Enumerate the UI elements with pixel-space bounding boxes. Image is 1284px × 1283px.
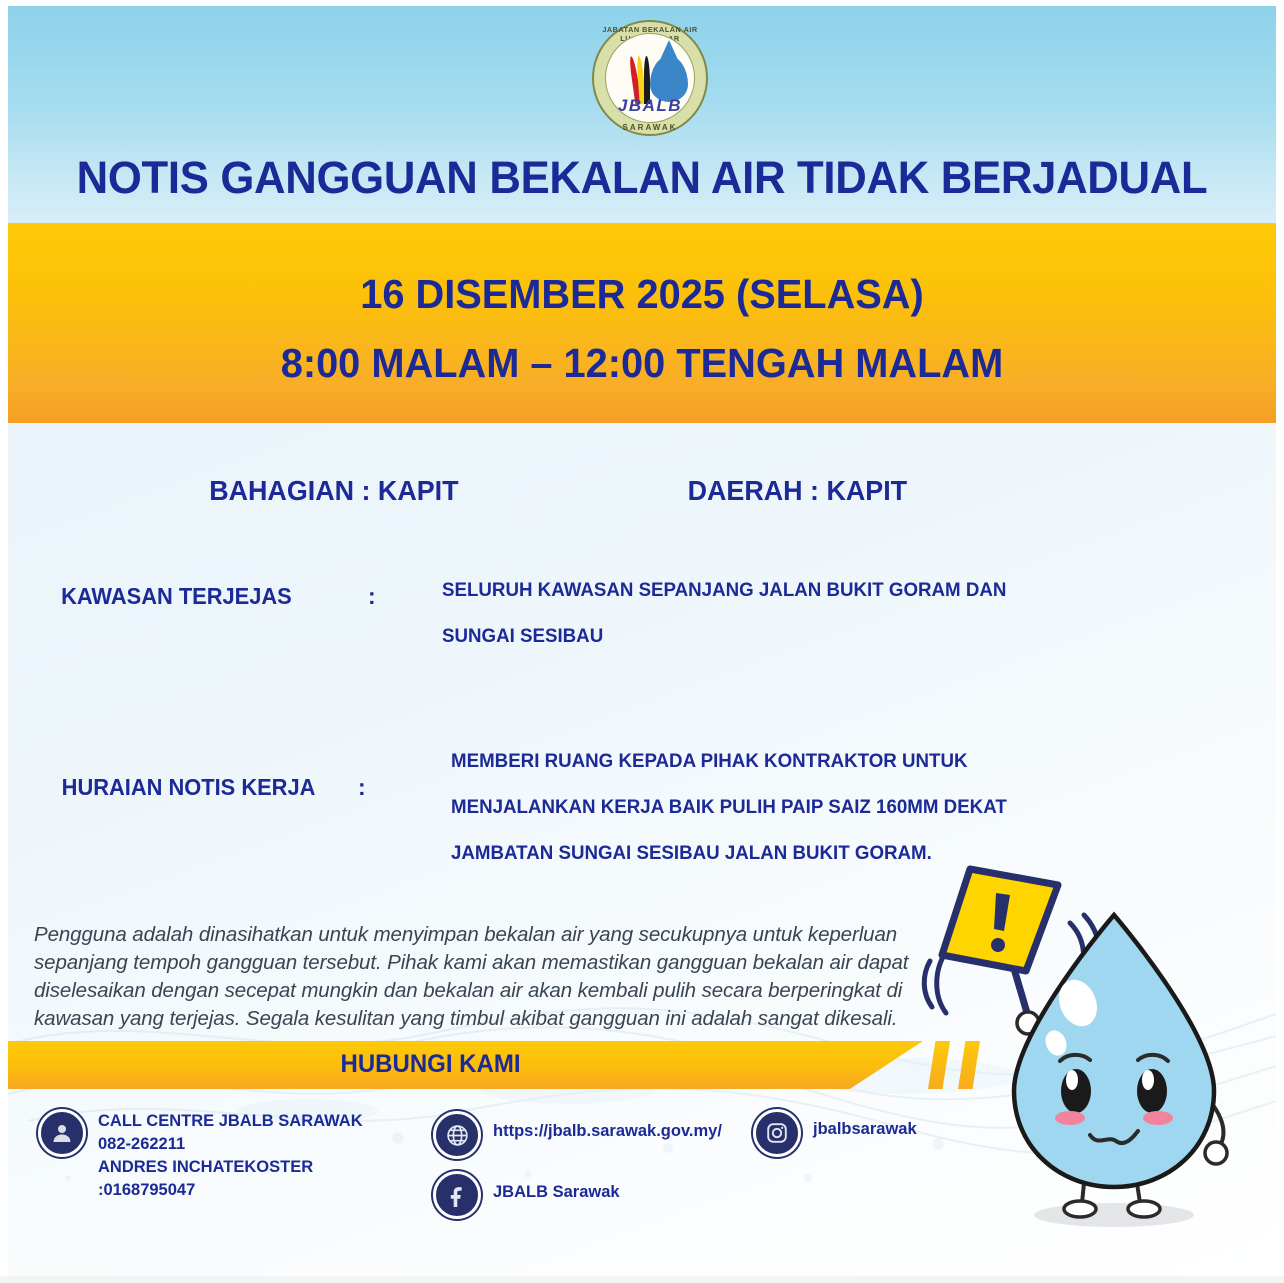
field-colon: : [358,774,366,801]
header-band: JABATAN BEKALAN AIR LUAR BANDAR SARAWAK … [8,6,1276,223]
contact-banner-title: HUBUNGI KAMI [25,1050,836,1079]
notice-poster: JABATAN BEKALAN AIR LUAR BANDAR SARAWAK … [0,0,1284,1283]
banner-stripe-1 [928,1041,950,1089]
field-value-line-2: MENJALANKAN KERJA BAIK PULIH PAIP SAIZ 1… [451,784,1007,830]
bahagian-label: BAHAGIAN : KAPIT [209,475,458,507]
field-label: KAWASAN TERJEJAS [61,583,292,610]
notice-date: 16 DISEMBER 2025 (SELASA) [27,271,1257,318]
call-centre-line-2: 082-262211 [98,1133,363,1156]
logo-acronym: JBALB [606,96,694,116]
instagram-handle: jbalbsarawak [813,1118,917,1141]
call-centre-line-4: :0168795047 [98,1179,363,1202]
field-value-line-1: MEMBERI RUANG KEPADA PIHAK KONTRAKTOR UN… [451,738,968,784]
region-row: BAHAGIAN : KAPIT DAERAH : KAPIT [8,475,1276,519]
facebook-handle: JBALB Sarawak [493,1181,620,1204]
field-value-line-1: SELURUH KAWASAN SEPANJANG JALAN BUKIT GO… [442,567,1006,613]
footer-strip [0,1276,1284,1283]
page-title: NOTIS GANGGUAN BEKALAN AIR TIDAK BERJADU… [27,152,1257,204]
body-area: BAHAGIAN : KAPIT DAERAH : KAPIT KAWASAN … [8,423,1276,1276]
notice-time: 8:00 MALAM – 12:00 TENGAH MALAM [27,340,1257,387]
banner-stripe-2 [958,1041,980,1089]
call-centre-line-1: CALL CENTRE JBALB SARAWAK [98,1110,363,1133]
call-centre-line-3: ANDRES INCHATEKOSTER [98,1156,363,1179]
daerah-label: DAERAH : KAPIT [688,475,908,507]
field-label: HURAIAN NOTIS KERJA [62,774,316,801]
field-colon: : [368,583,376,610]
facebook-icon [433,1171,481,1219]
jbalb-logo: JABATAN BEKALAN AIR LUAR BANDAR SARAWAK … [592,20,708,136]
globe-icon [433,1111,481,1159]
person-icon [38,1109,86,1157]
advisory-paragraph: Pengguna adalah dinasihatkan untuk menyi… [34,921,914,1033]
logo-arc-bottom-text: SARAWAK [592,123,708,132]
date-time-band: 16 DISEMBER 2025 (SELASA) 8:00 MALAM – 1… [8,223,1276,423]
warning-triangle-sign [942,869,1058,971]
field-value-line-2: SUNGAI SESIBAU [442,613,603,659]
logo-inner-disc: JBALB [605,33,695,123]
website-url: https://jbalb.sarawak.gov.my/ [493,1120,722,1143]
instagram-icon [753,1109,801,1157]
contact-banner: HUBUNGI KAMI [8,1041,923,1089]
field-value-line-3: JAMBATAN SUNGAI SESIBAU JALAN BUKIT GORA… [451,830,932,876]
contact-call-centre-text: CALL CENTRE JBALB SARAWAK 082-262211 AND… [98,1110,363,1202]
